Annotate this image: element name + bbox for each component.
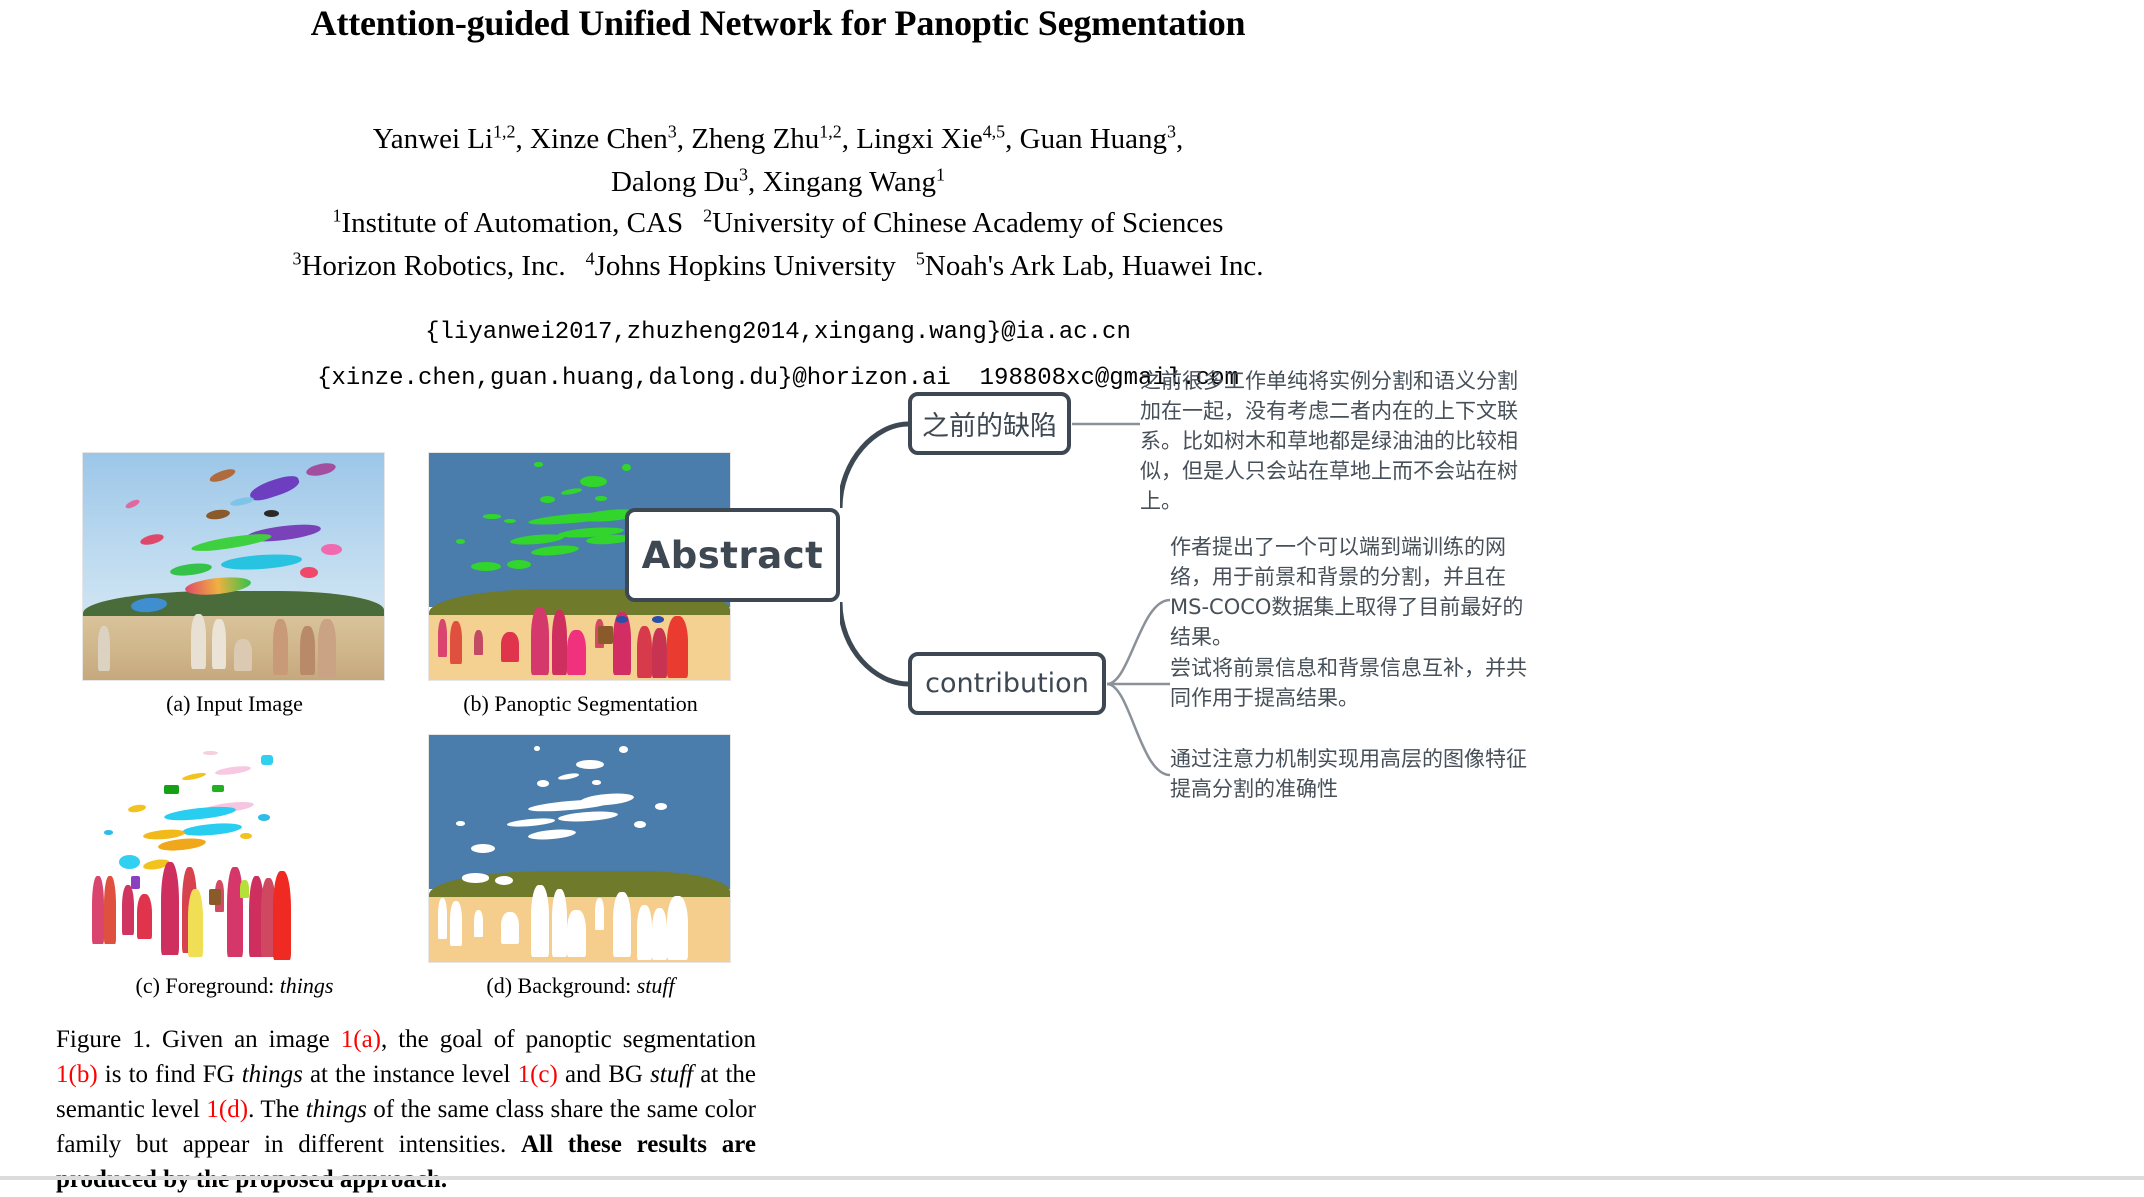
caption-segment: 1(a) xyxy=(341,1026,381,1053)
stuff-person-hole xyxy=(474,910,483,937)
caption-segment: at the instance level xyxy=(303,1061,518,1088)
mindmap-leaf-contribution-3[interactable]: 通过注意力机制实现用高层的图像特征提高分割的准确性 xyxy=(1170,744,1540,804)
stuff-person-hole xyxy=(595,898,604,930)
figure-caption-c-label: (c) xyxy=(136,973,160,998)
figure-caption-b: (b) Panoptic Segmentation xyxy=(428,691,733,717)
segment-kite xyxy=(483,514,501,519)
bottom-divider xyxy=(0,1176,2144,1180)
stuff-person-hole xyxy=(567,910,585,958)
figure-caption-a: (a) Input Image xyxy=(82,691,387,717)
figure-caption-a-text: Input Image xyxy=(196,691,303,716)
person-shape xyxy=(98,626,110,671)
thing-person xyxy=(240,880,249,898)
person-shape xyxy=(273,619,288,676)
kite-shape xyxy=(300,567,318,578)
stuff-hole xyxy=(576,760,603,769)
segment-person xyxy=(552,610,567,676)
figure-caption-b-label: (b) xyxy=(463,691,489,716)
figure-panel-d: (d) Background: stuff xyxy=(428,734,733,999)
caption-segment: . The xyxy=(248,1096,306,1123)
caption-segment: , the goal of panoptic segmentation xyxy=(381,1026,756,1053)
mindmap: Abstract 之前的缺陷 contribution 之前很多工作单纯将实例分… xyxy=(840,0,2144,1180)
segment-person xyxy=(474,630,483,655)
thing-kite xyxy=(258,814,270,821)
person-shape xyxy=(212,619,226,669)
stuff-person-hole xyxy=(652,908,667,960)
caption-segment: things xyxy=(242,1061,303,1088)
thing-kite xyxy=(164,785,179,794)
stuff-person-hole xyxy=(552,889,567,957)
thing-person xyxy=(92,876,104,944)
caption-segment: is to find FG xyxy=(98,1061,242,1088)
connector-contribution-to-leaf-3 xyxy=(1107,684,1170,775)
kite-shape xyxy=(321,544,342,555)
foreground-things-image xyxy=(82,734,385,963)
figure-panel-c: (c) Foreground: things xyxy=(82,734,387,999)
thing-kite xyxy=(261,755,273,764)
segment-person xyxy=(501,632,519,662)
connector-root-to-contribution xyxy=(840,602,908,684)
person-shape xyxy=(191,614,206,668)
figure-caption-d-label: (d) xyxy=(486,973,512,998)
kite-shape xyxy=(264,510,279,517)
stuff-person-hole xyxy=(450,901,462,946)
stuff-hole xyxy=(456,821,465,826)
segment-kite xyxy=(534,462,543,467)
thing-person xyxy=(188,889,203,957)
mindmap-leaf-previous-defects-1[interactable]: 之前很多工作单纯将实例分割和语义分割加在一起，没有考虑二者内在的上下文联系。比如… xyxy=(1140,366,1522,516)
segment-person xyxy=(652,628,667,678)
stuff-hole xyxy=(655,803,667,810)
mindmap-leaf-contribution-1[interactable]: 作者提出了一个可以端到端训练的网络，用于前景和背景的分割，并且在MS-COCO数… xyxy=(1170,532,1540,652)
segment-kite xyxy=(471,562,501,571)
segment-kite xyxy=(580,476,607,487)
caption-segment: 1(d) xyxy=(206,1096,248,1123)
segment-box xyxy=(598,626,613,644)
figure-caption-d-text: Background: xyxy=(518,973,632,998)
thing-person xyxy=(104,876,116,944)
segment-person xyxy=(450,621,462,664)
figure-caption-d-italic: stuff xyxy=(637,973,675,998)
stuff-person-hole xyxy=(613,892,631,958)
figure-caption-c: (c) Foreground: things xyxy=(82,973,387,999)
stuff-hole xyxy=(592,780,601,785)
segment-person xyxy=(531,607,549,675)
stuff-hole xyxy=(495,876,513,885)
thing-kite xyxy=(212,785,224,792)
stuff-hole xyxy=(462,873,489,882)
segment-umbrella xyxy=(616,616,628,623)
input-image xyxy=(82,452,385,681)
figure-caption-b-text: Panoptic Segmentation xyxy=(494,691,697,716)
figure-caption-c-italic: things xyxy=(280,973,334,998)
stuff-person-hole xyxy=(637,905,652,959)
connector-root-to-defect xyxy=(840,424,908,508)
segment-person xyxy=(637,626,652,678)
thing-person xyxy=(131,876,140,890)
thing-person xyxy=(273,871,291,960)
stuff-person-hole xyxy=(501,912,519,944)
caption-segment: Figure 1. Given an image xyxy=(56,1026,341,1053)
mindmap-node-contribution[interactable]: contribution xyxy=(908,652,1106,715)
person-shape xyxy=(300,626,315,676)
thing-kite xyxy=(119,855,140,869)
thing-person xyxy=(227,867,242,958)
stuff-hole xyxy=(619,746,628,753)
figure-caption-c-text: Foreground: xyxy=(165,973,274,998)
thing-kite xyxy=(240,833,252,840)
figure-caption-d: (d) Background: stuff xyxy=(428,973,733,999)
person-shape xyxy=(318,619,336,678)
caption-segment: things xyxy=(306,1096,367,1123)
segment-kite xyxy=(622,464,631,471)
segment-person xyxy=(438,619,447,658)
segment-kite xyxy=(507,560,531,569)
figure-caption-a-label: (a) xyxy=(166,691,190,716)
stuff-hole xyxy=(634,821,646,828)
caption-segment: stuff xyxy=(650,1061,693,1088)
thing-person xyxy=(137,894,152,939)
segment-kite xyxy=(456,539,465,544)
mindmap-node-abstract[interactable]: Abstract xyxy=(625,508,840,602)
person-shape xyxy=(234,639,252,671)
stuff-person-hole xyxy=(531,885,549,958)
caption-segment: 1(c) xyxy=(518,1061,558,1088)
caption-segment: 1(b) xyxy=(56,1061,98,1088)
mindmap-leaf-contribution-2[interactable]: 尝试将前景信息和背景信息互补，并共同作用于提高结果。 xyxy=(1170,653,1540,713)
stuff-person-hole xyxy=(667,896,688,960)
caption-segment: and BG xyxy=(558,1061,650,1088)
figure-row-bottom: (c) Foreground: things xyxy=(0,734,760,1016)
figure-caption-paragraph: Figure 1. Given an image 1(a), the goal … xyxy=(56,1022,756,1197)
thing-person xyxy=(161,862,179,955)
figure-panel-a: (a) Input Image xyxy=(82,452,387,717)
stuff-person-hole xyxy=(438,898,447,939)
segment-kite xyxy=(595,496,607,501)
mindmap-node-previous-defects[interactable]: 之前的缺陷 xyxy=(908,392,1071,455)
segment-person xyxy=(667,616,688,677)
thing-kite xyxy=(104,830,113,835)
background-stuff-image xyxy=(428,734,731,963)
thing-person xyxy=(122,885,134,935)
connector-contribution-to-leaf-1 xyxy=(1107,600,1170,684)
thing-bag xyxy=(209,889,221,905)
segment-person xyxy=(567,630,585,675)
